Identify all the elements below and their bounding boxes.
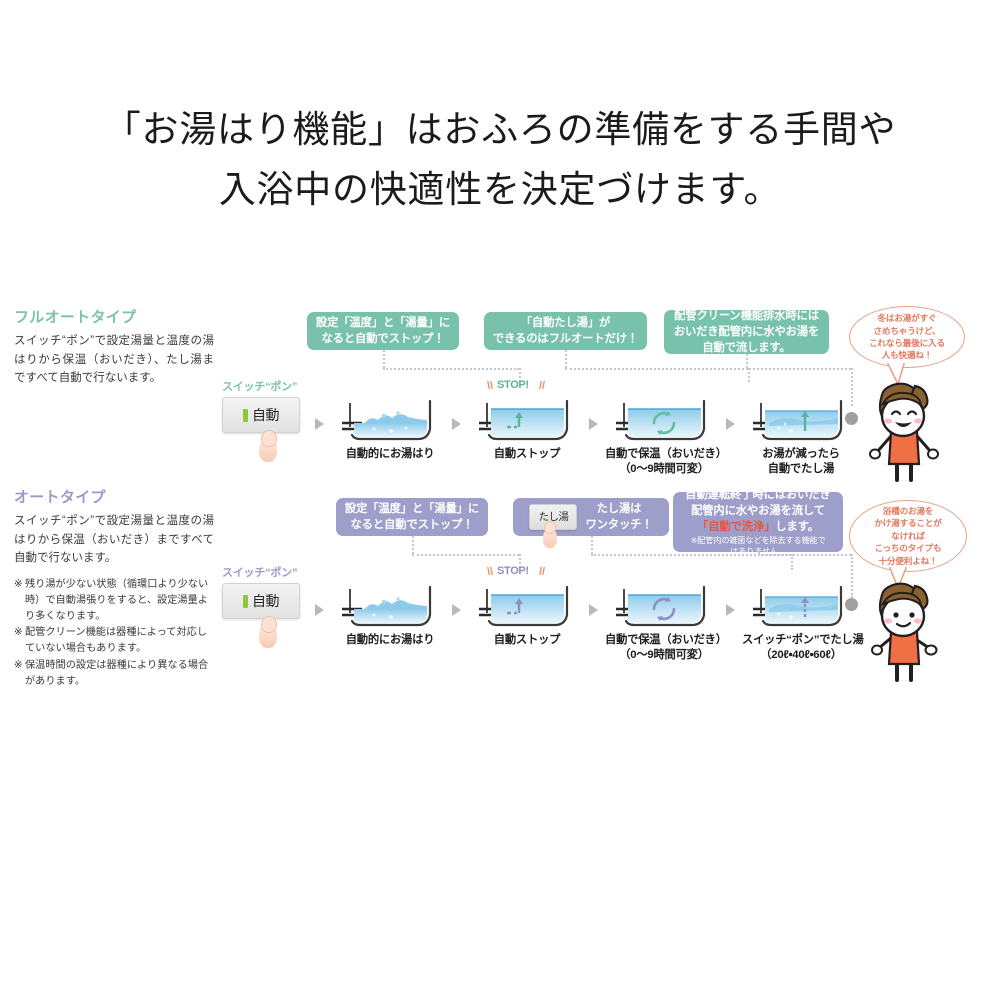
callout-full-auto-1-text: 設定「温度」と「湯量」になると自動でストップ！: [316, 315, 450, 347]
tub-filling-icon: [336, 383, 444, 443]
section-auto-notes: ※残り湯が少ない状態（循環口より少ない時）で自動湯張りをすると、設定湯量より多く…: [14, 577, 214, 690]
callout-auto-3-line3: 「自動で洗浄」します。: [697, 519, 819, 535]
note-item: ※保温時間の設定は器種により異なる場合があります。: [14, 658, 214, 690]
sparkle-left-icon: \\: [487, 566, 493, 578]
switch-label-full-auto: スイッチ“ポン”: [222, 378, 318, 394]
leader-line: [591, 536, 593, 554]
switch-auto[interactable]: スイッチ“ポン” 自動: [222, 564, 318, 619]
led-indicator-icon: [243, 595, 248, 608]
leader-line: [746, 368, 851, 370]
tub-refill-icon: [747, 383, 855, 443]
callout-full-auto-1: 設定「温度」と「湯量」になると自動でストップ！: [307, 312, 459, 350]
speech-bubble-full-auto: 冬はお湯がすぐさめちゃうけど、これなら最後に入る人も快適ね！: [849, 306, 965, 368]
page-title: 「お湯はり機能」はおふろの準備をする手間や 入浴中の快適性を決定づけます。: [0, 100, 1000, 220]
callout-auto-2-text: たし湯はワンタッチ！: [585, 501, 652, 533]
callout-highlight: 「自動で洗浄」: [697, 521, 775, 533]
flow-arrow-icon: [589, 418, 598, 430]
auto-button-label: 自動: [252, 591, 279, 611]
section-body-full-auto: スイッチ“ポン”で設定湯量と温度の湯はりから保温（おいだき）、たし湯まですべて自…: [14, 332, 214, 388]
tub-reheat-icon: [610, 569, 718, 629]
note-text: 保温時間の設定は器種により異なる場合があります。: [25, 660, 208, 687]
step-caption: 自動ストップ: [468, 633, 586, 648]
switch-full-auto[interactable]: スイッチ“ポン” 自動: [222, 378, 318, 433]
flow-arrow-icon: [315, 604, 324, 616]
stop-badge: STOP!: [497, 565, 529, 577]
tub-stop-icon: STOP! \\ //: [473, 569, 581, 629]
step-full-auto-2: STOP! \\ // 自動ストップ: [468, 383, 586, 462]
flow-arrow-icon: [726, 604, 735, 616]
leader-line: [412, 536, 414, 554]
led-indicator-icon: [243, 409, 248, 422]
callout-auto-2: たし湯 たし湯はワンタッチ！: [513, 498, 669, 536]
finger-pointer-icon: [258, 428, 278, 462]
sparkle-right-icon: //: [539, 566, 545, 578]
finger-pointer-icon: [258, 614, 278, 648]
section-full-auto-text: フルオートタイプ スイッチ“ポン”で設定湯量と温度の湯はりから保温（おいだき）、…: [14, 306, 214, 388]
section-title-full-auto: フルオートタイプ: [14, 306, 214, 327]
auto-button-label: 自動: [252, 405, 279, 425]
flow-arrow-icon: [315, 418, 324, 430]
flow-arrow-icon: [726, 418, 735, 430]
character-woman-smiling: [861, 378, 945, 482]
step-caption: お湯が減ったら自動でたし湯: [742, 447, 860, 478]
leader-line: [412, 554, 519, 556]
step-caption: 自動的にお湯はり: [331, 633, 449, 648]
switch-label-auto: スイッチ“ポン”: [222, 564, 318, 580]
step-caption: 自動ストップ: [468, 447, 586, 462]
note-item: ※配管クリーン機能は器種によって対応していない場合もあります。: [14, 625, 214, 657]
note-item: ※残り湯が少ない状態（循環口より少ない時）で自動湯張りをすると、設定湯量より多く…: [14, 577, 214, 624]
step-caption: 自動で保温（おいだき）（0〜9時間可変）: [605, 633, 723, 664]
leader-line: [758, 554, 851, 556]
step-auto-3: 自動で保温（おいだき）（0〜9時間可変）: [605, 569, 723, 664]
sparkle-right-icon: //: [539, 380, 545, 392]
flow-arrow-icon: [452, 604, 461, 616]
callout-full-auto-2: 「自動たし湯」ができるのはフルオートだけ！: [484, 312, 647, 350]
leader-line: [383, 368, 519, 370]
flow-end-dot: [845, 598, 858, 611]
flow-arrow-icon: [452, 418, 461, 430]
finger-pointer-icon: [542, 519, 557, 545]
leader-line: [565, 350, 567, 368]
callout-auto-1-text: 設定「温度」と「湯量」になると自動でストップ！: [345, 501, 479, 533]
step-caption: 自動で保温（おいだき）（0〜9時間可変）: [605, 447, 723, 478]
note-marker: ※: [14, 658, 23, 674]
flow-arrow-icon: [589, 604, 598, 616]
flow-end-dot: [845, 412, 858, 425]
infographic-page: 「お湯はり機能」はおふろの準備をする手間や 入浴中の快適性を決定づけます。 フル…: [0, 0, 1000, 1000]
step-full-auto-1: 自動的にお湯はり: [331, 383, 449, 462]
callout-after: します。: [775, 521, 819, 533]
step-auto-1: 自動的にお湯はり: [331, 569, 449, 648]
step-auto-4: スイッチ“ポン”でたし湯（20ℓ・40ℓ・60ℓ）: [742, 569, 860, 664]
callout-full-auto-2-text: 「自動たし湯」ができるのはフルオートだけ！: [493, 315, 638, 347]
tub-stop-icon: STOP! \\ //: [473, 383, 581, 443]
callout-full-auto-3: 配管クリーン機能排水時にはおいだき配管内に水やお湯を自動で流します。: [664, 310, 829, 354]
leader-line: [748, 368, 750, 382]
callout-auto-3: 自動運転終了時にはおいだき配管内に水やお湯を流して 「自動で洗浄」します。 ※配…: [673, 492, 843, 552]
step-caption: 自動的にお湯はり: [331, 447, 449, 462]
section-body-auto: スイッチ“ポン”で設定湯量と温度の湯はりから保温（おいだき）まですべて自動で行な…: [14, 512, 214, 568]
step-caption: スイッチ“ポン”でたし湯（20ℓ・40ℓ・60ℓ）: [742, 633, 860, 664]
character-woman-pointing: [861, 578, 945, 682]
tashiyu-button[interactable]: たし湯: [529, 504, 577, 530]
section-title-auto: オートタイプ: [14, 486, 214, 507]
leader-line: [565, 368, 748, 370]
step-auto-2: STOP! \\ // 自動ストップ: [468, 569, 586, 648]
stop-badge: STOP!: [497, 379, 529, 391]
page-title-line2: 入浴中の快適性を決定づけます。: [0, 160, 1000, 220]
page-title-line1: 「お湯はり機能」はおふろの準備をする手間や: [0, 100, 1000, 160]
leader-line: [791, 554, 793, 570]
step-full-auto-3: 自動で保温（おいだき）（0〜9時間可変）: [605, 383, 723, 478]
step-full-auto-4: お湯が減ったら自動でたし湯: [742, 383, 860, 478]
speech-bubble-auto: 浴槽のお湯をかけ湯することがなければこっちのタイプも十分便利よね！: [849, 500, 967, 572]
leader-line: [746, 354, 748, 368]
tub-reheat-icon: [610, 383, 718, 443]
tub-filling-icon: [336, 569, 444, 629]
leader-line: [383, 350, 385, 368]
callout-auto-3-text: 自動運転終了時にはおいだき配管内に水やお湯を流して: [685, 487, 830, 519]
callout-auto-1: 設定「温度」と「湯量」になると自動でストップ！: [336, 498, 488, 536]
note-text: 残り湯が少ない状態（循環口より少ない時）で自動湯張りをすると、設定湯量より多くな…: [25, 579, 208, 622]
note-text: 配管クリーン機能は器種によって対応していない場合もあります。: [25, 627, 207, 654]
speech-bubble-full-auto-text: 冬はお湯がすぐさめちゃうけど、これなら最後に入る人も快適ね！: [869, 312, 945, 362]
sparkle-left-icon: \\: [487, 380, 493, 392]
tub-refill-icon: [747, 569, 855, 629]
note-marker: ※: [14, 577, 23, 593]
callout-full-auto-3-text: 配管クリーン機能排水時にはおいだき配管内に水やお湯を自動で流します。: [674, 308, 819, 356]
speech-bubble-auto-text: 浴槽のお湯をかけ湯することがなければこっちのタイプも十分便利よね！: [874, 505, 941, 567]
section-auto-text: オートタイプ スイッチ“ポン”で設定湯量と温度の湯はりから保温（おいだき）まです…: [14, 486, 214, 691]
note-marker: ※: [14, 625, 23, 641]
